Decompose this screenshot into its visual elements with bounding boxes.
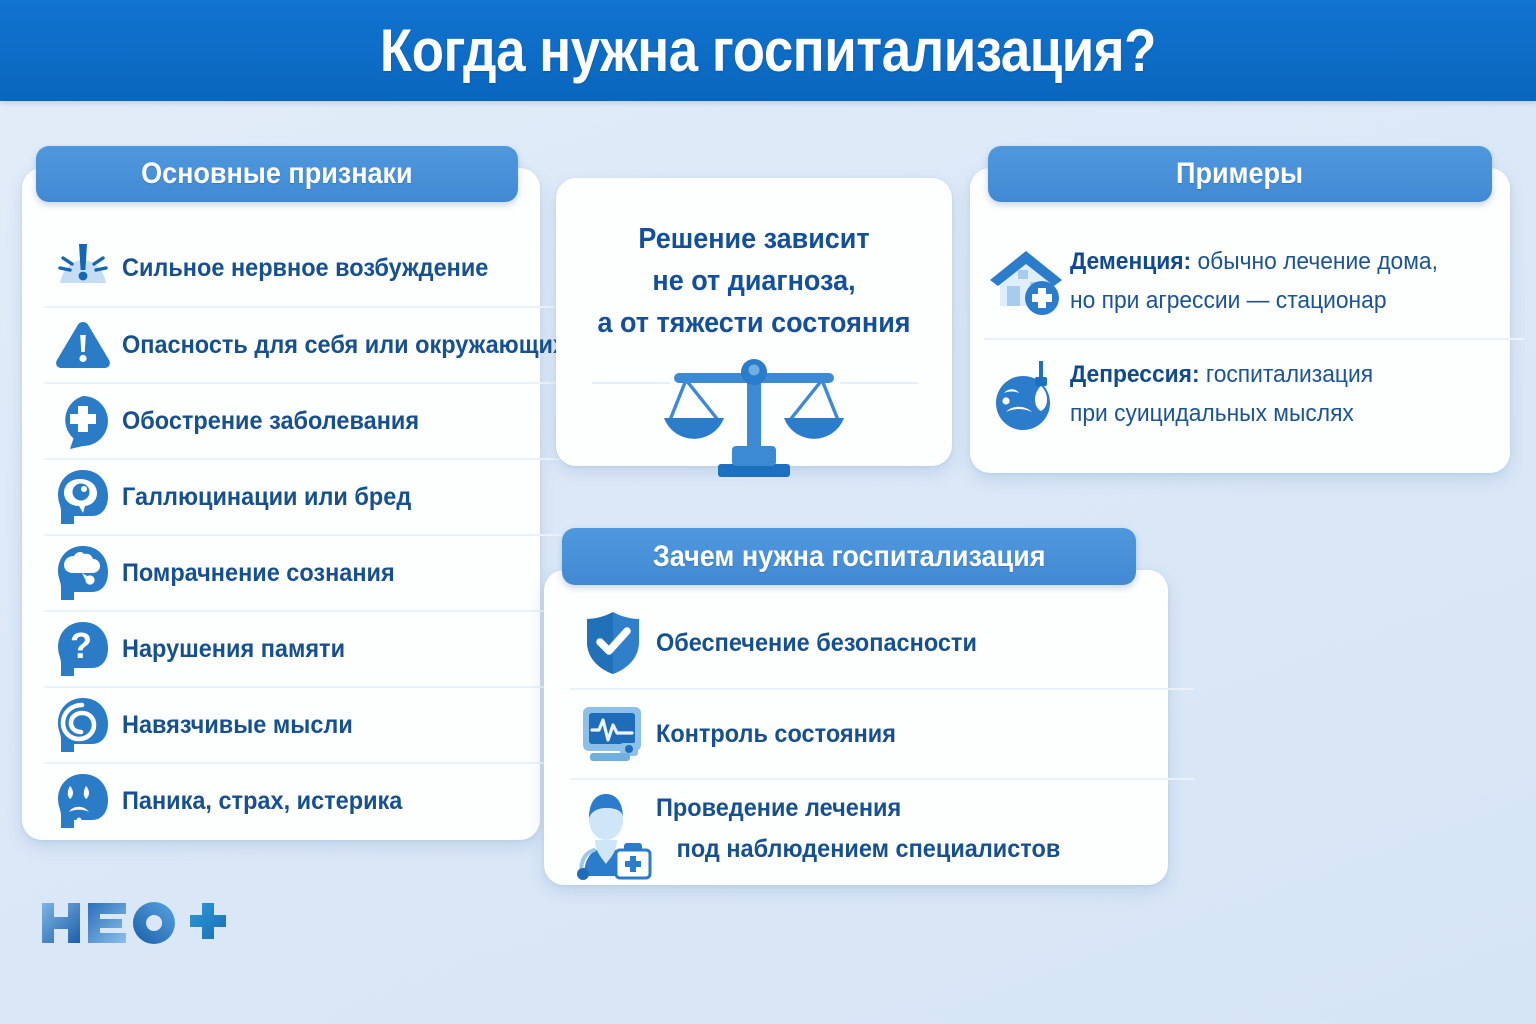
example-line2: но при агрессии — стационар	[1070, 287, 1386, 314]
shield-check-icon	[570, 606, 656, 680]
list-item-label: Сильное нервное возбуждение	[122, 252, 488, 285]
purpose-tab[interactable]: Зачем нужна госпитализация	[562, 528, 1136, 585]
list-item-label: Обеспечение безопасности	[656, 627, 977, 660]
list-item[interactable]: Галлюцинации или бред	[44, 458, 562, 534]
list-item-label: Опасность для себя или окружающих	[122, 329, 566, 362]
list-item-label: Проведение лечения под наблюдением специ…	[656, 788, 1060, 869]
list-item[interactable]: Контроль состояния	[570, 688, 1194, 778]
examples-list: Деменция: обычно лечение дома, но при аг…	[970, 226, 1536, 450]
ecg-monitor-icon	[570, 697, 656, 771]
list-item[interactable]: Обеспечение безопасности	[570, 598, 1194, 688]
list-item[interactable]: Опасность для себя или окружающих	[44, 306, 562, 382]
list-item-label: Нарушения памяти	[122, 633, 345, 666]
head-eye-bubble-icon	[44, 465, 122, 529]
head-question-icon: ?	[44, 617, 122, 681]
example-text: Деменция: обычно лечение дома, но при аг…	[1070, 243, 1438, 321]
decision-line-2: не от диагноза,	[570, 260, 938, 302]
list-item[interactable]: Помрачнение сознания	[44, 534, 562, 610]
list-item-label: Обострение заболевания	[122, 405, 419, 438]
doctor-medkit-icon	[570, 788, 656, 880]
balance-scales-icon-wrap	[556, 350, 952, 490]
decision-statement-text: Решение зависит не от диагноза, а от тяж…	[556, 218, 952, 344]
list-item[interactable]: Паника, страх, истерика	[44, 762, 562, 838]
svg-text:?: ?	[70, 625, 92, 666]
head-panic-face-icon	[44, 769, 122, 833]
list-item-label: Контроль состояния	[656, 718, 896, 751]
main-signs-list: Сильное нервное возбуждение Опасность дл…	[22, 230, 576, 838]
medical-cross-speech-icon	[44, 389, 122, 453]
main-signs-tab-label: Основные признаки	[141, 157, 413, 191]
head-spiral-icon	[44, 693, 122, 757]
example-line1-rest: обычно лечение дома,	[1191, 248, 1438, 275]
list-item-label: Навязчивые мысли	[122, 709, 353, 742]
list-item[interactable]: Депрессия: госпитализация при суицидальн…	[984, 338, 1524, 450]
main-signs-tab[interactable]: Основные признаки	[36, 146, 518, 202]
list-item[interactable]: Навязчивые мысли	[44, 686, 562, 762]
list-item[interactable]: Деменция: обычно лечение дома, но при аг…	[984, 226, 1524, 338]
examples-tab[interactable]: Примеры	[988, 146, 1492, 202]
purpose-line2: под наблюдением специалистов	[656, 829, 1060, 870]
decision-line-1: Решение зависит	[570, 218, 938, 260]
page-title: Когда нужна госпитализация?	[380, 16, 1156, 85]
house-medical-icon	[984, 239, 1070, 325]
sad-face-noose-icon	[984, 352, 1070, 438]
example-text: Депрессия: госпитализация при суицидальн…	[1070, 356, 1373, 434]
list-item[interactable]: Обострение заболевания	[44, 382, 562, 458]
list-item-label: Паника, страх, истерика	[122, 785, 402, 818]
decision-line-3: а от тяжести состояния	[570, 302, 938, 344]
examples-tab-label: Примеры	[1176, 157, 1303, 191]
example-lead: Депрессия:	[1070, 361, 1200, 388]
warning-triangle-icon	[44, 313, 122, 377]
example-line1-rest: госпитализация	[1200, 361, 1373, 388]
purpose-tab-label: Зачем нужна госпитализация	[653, 540, 1046, 574]
brand-logo	[38, 893, 238, 953]
head-cloud-icon	[44, 541, 122, 605]
purpose-line1: Проведение лечения	[656, 794, 901, 822]
purpose-list: Обеспечение безопасности Контроль состоя…	[544, 598, 1212, 878]
list-item-label: Помрачнение сознания	[122, 557, 395, 590]
list-item[interactable]: Проведение лечения под наблюдением специ…	[570, 778, 1194, 878]
neo-plus-logo-icon	[38, 893, 238, 953]
list-item-label: Галлюцинации или бред	[122, 481, 411, 514]
exclamation-burst-icon	[44, 236, 122, 300]
example-lead: Деменция:	[1070, 248, 1191, 275]
header-band: Когда нужна госпитализация?	[0, 0, 1536, 101]
list-item[interactable]: Сильное нервное возбуждение	[44, 230, 562, 306]
balance-scales-icon	[656, 350, 852, 478]
list-item[interactable]: ? Нарушения памяти	[44, 610, 562, 686]
example-line2: при суицидальных мыслях	[1070, 400, 1354, 427]
